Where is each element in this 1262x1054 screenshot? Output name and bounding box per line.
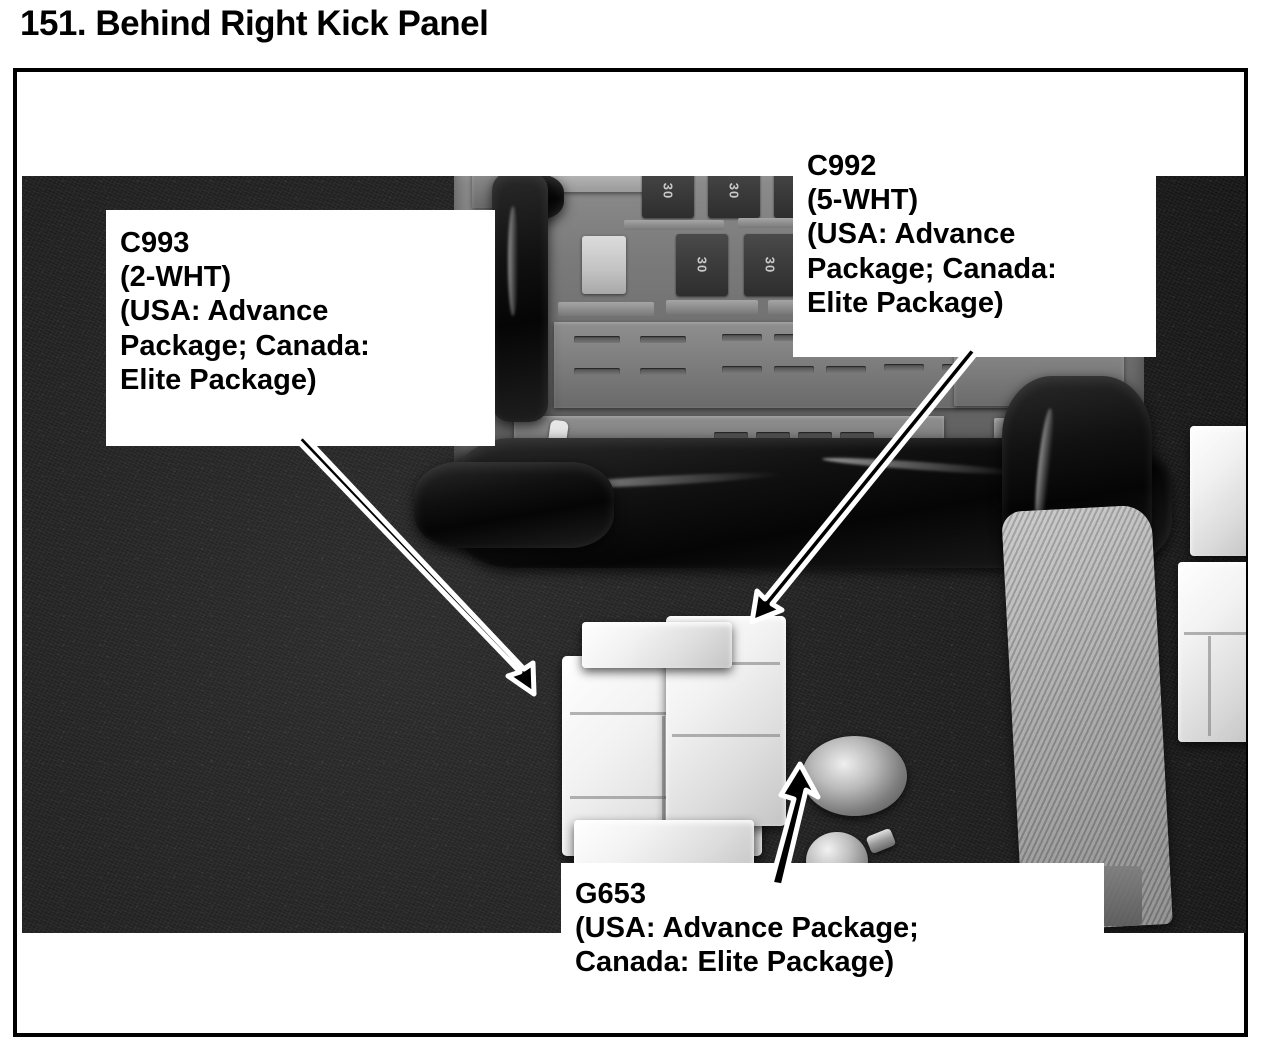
callout-c992: C992 (5-WHT) (USA: Advance Package; Cana… <box>793 135 1156 357</box>
fuse-label-30a: 30 <box>695 257 710 273</box>
page-title: 151. Behind Right Kick Panel <box>20 4 488 44</box>
figure-frame: 30 30 30 30 30 30 <box>13 68 1248 1037</box>
fuse-label: 30 <box>661 183 676 199</box>
connector-right-upper <box>1190 426 1246 556</box>
callout-c993: C993 (2-WHT) (USA: Advance Package; Cana… <box>106 210 495 446</box>
fuse-label-30a: 30 <box>763 257 778 273</box>
white-connector-top-tab <box>582 622 732 668</box>
callout-g653: G653 (USA: Advance Package; Canada: Elit… <box>561 863 1104 993</box>
connector-right-lower <box>1178 562 1246 742</box>
fuse-label: 30 <box>727 183 742 199</box>
metal-socket <box>802 736 907 816</box>
harness-loom-left <box>492 176 548 422</box>
